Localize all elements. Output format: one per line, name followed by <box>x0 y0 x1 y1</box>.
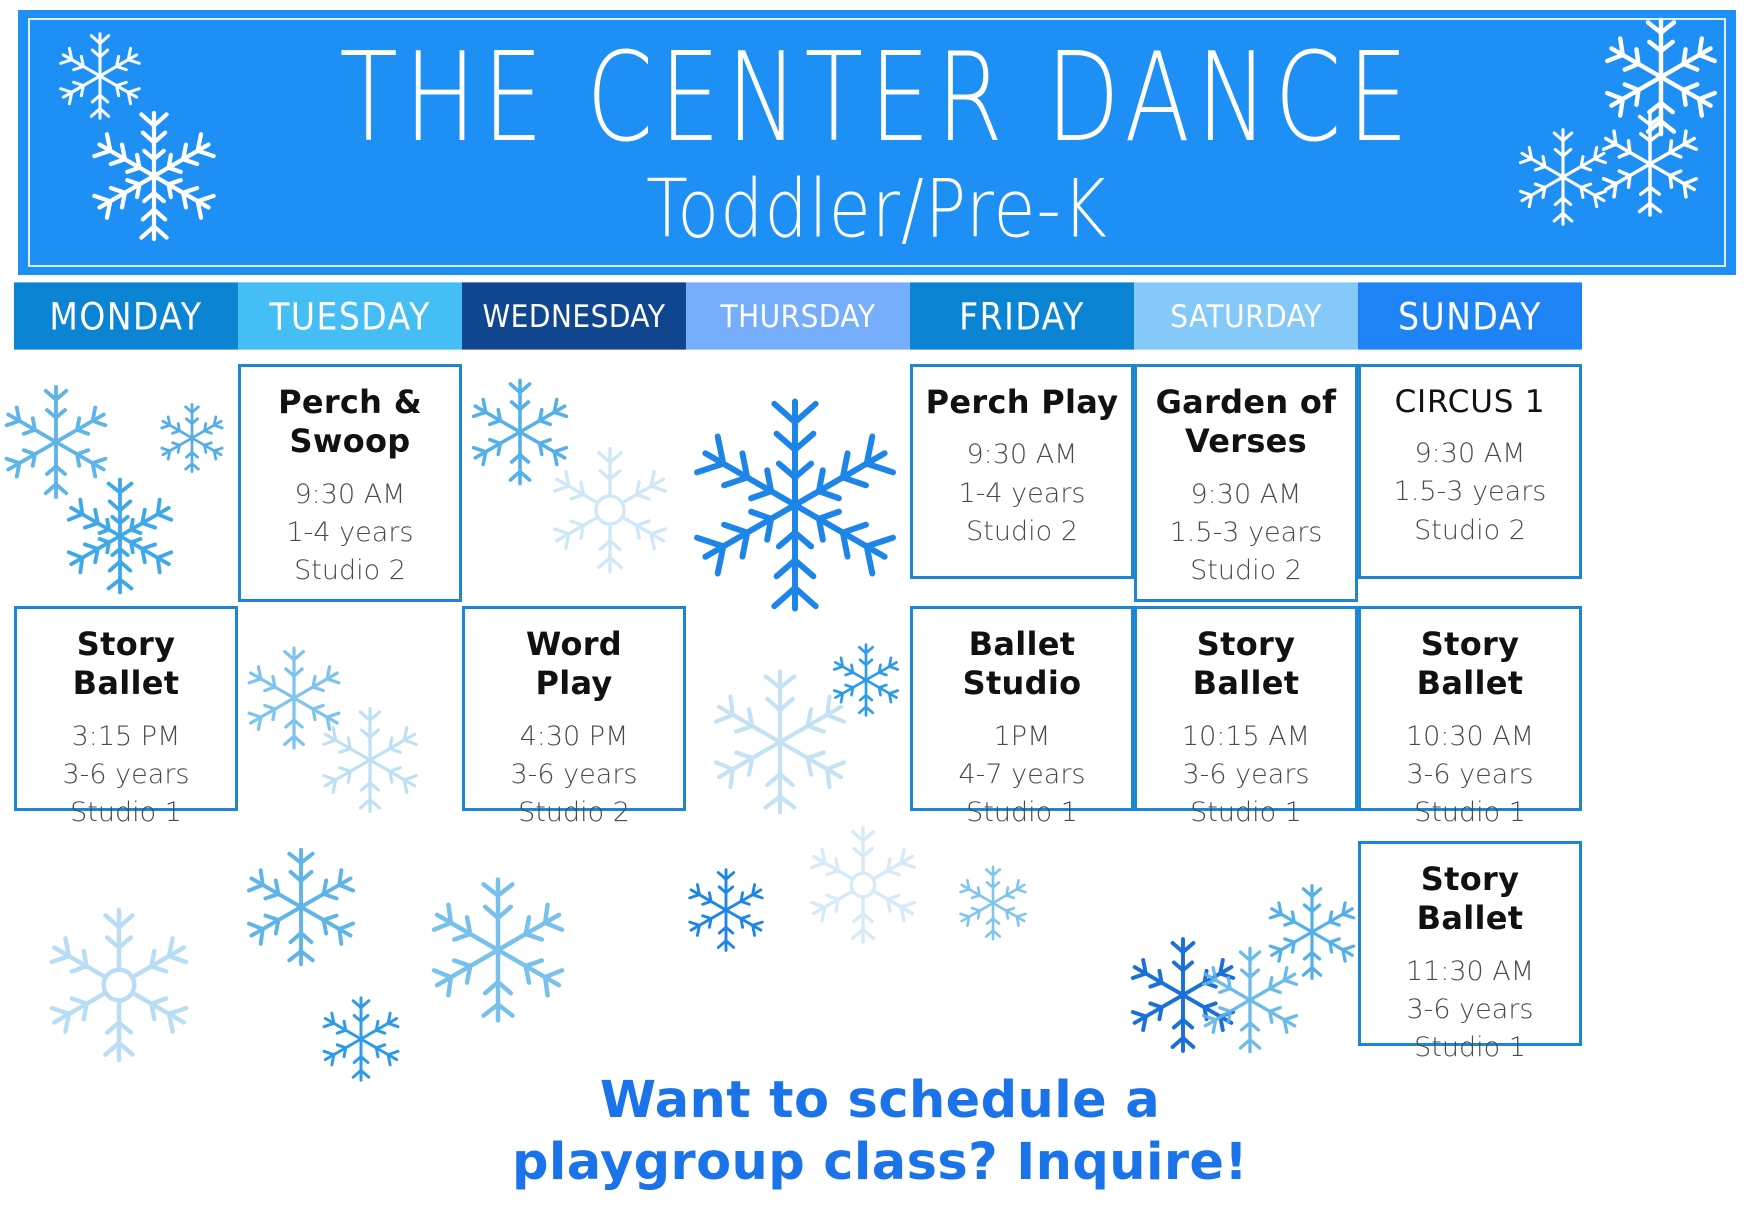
class-ages: 3-6 years <box>23 756 229 794</box>
day-header-monday: MONDAY <box>14 282 238 349</box>
day-header-tuesday: TUESDAY <box>238 282 462 349</box>
class-studio: Studio 2 <box>1367 512 1573 550</box>
inquiry-cta-line1: Want to schedule a <box>430 1070 1330 1132</box>
day-header-label: MONDAY <box>49 294 202 338</box>
class-title-line2: Swoop <box>247 422 453 461</box>
class-title-line2: Ballet <box>1367 664 1573 703</box>
class-studio: Studio 2 <box>247 552 453 590</box>
poster-subtitle: Toddler/Pre-K <box>61 168 1693 249</box>
class-ages: 1-4 years <box>247 514 453 552</box>
class-card[interactable]: Story Ballet 10:30 AM 3-6 years Studio 1 <box>1358 606 1582 811</box>
class-ages: 1-4 years <box>919 475 1125 513</box>
inquiry-cta-line2: playgroup class? Inquire! <box>430 1132 1330 1194</box>
day-header-sunday: SUNDAY <box>1358 282 1582 349</box>
class-ages: 1.5-3 years <box>1367 473 1573 511</box>
day-header-thursday: THURSDAY <box>686 282 910 349</box>
class-studio: Studio 2 <box>471 794 677 832</box>
class-studio: Studio 1 <box>1367 1029 1573 1067</box>
schedule-poster: THE CENTER DANCE Toddler/Pre-K <box>0 0 1754 1225</box>
class-title-line1: Perch & <box>247 383 453 422</box>
day-header-label: SATURDAY <box>1170 298 1321 335</box>
day-header-label: FRIDAY <box>959 294 1085 338</box>
class-title-line2: Ballet <box>23 664 229 703</box>
class-studio: Studio 1 <box>23 794 229 832</box>
class-ages: 3-6 years <box>1143 756 1349 794</box>
class-title-line1: Story <box>1367 625 1573 664</box>
class-time: 9:30 AM <box>919 436 1125 474</box>
class-studio: Studio 2 <box>919 513 1125 551</box>
poster-banner: THE CENTER DANCE Toddler/Pre-K <box>18 10 1736 275</box>
class-title-line1: Garden of <box>1143 383 1349 422</box>
class-card[interactable]: Story Ballet 3:15 PM 3-6 years Studio 1 <box>14 606 238 811</box>
class-time: 4:30 PM <box>471 718 677 756</box>
day-header-label: THURSDAY <box>720 298 875 335</box>
class-title-line1: Word <box>471 625 677 664</box>
class-time: 10:30 AM <box>1367 718 1573 756</box>
day-header-label: SUNDAY <box>1398 294 1542 338</box>
class-studio: Studio 1 <box>1143 794 1349 832</box>
class-ages: 3-6 years <box>471 756 677 794</box>
class-card[interactable]: Story Ballet 11:30 AM 3-6 years Studio 1 <box>1358 841 1582 1046</box>
day-header-label: WEDNESDAY <box>483 298 666 335</box>
day-column-sunday: SUNDAY CIRCUS 1 9:30 AM 1.5-3 years Stud… <box>1358 286 1582 1225</box>
class-ages: 4-7 years <box>919 756 1125 794</box>
class-title-line1: Ballet <box>919 625 1125 664</box>
class-time: 1PM <box>919 718 1125 756</box>
class-card[interactable]: CIRCUS 1 9:30 AM 1.5-3 years Studio 2 <box>1358 364 1582 579</box>
class-title-line2: Ballet <box>1367 899 1573 938</box>
class-title-line2: Ballet <box>1143 664 1349 703</box>
class-time: 10:15 AM <box>1143 718 1349 756</box>
class-title-line1: Story <box>1367 860 1573 899</box>
day-header-label: TUESDAY <box>269 294 431 338</box>
class-title-line2: Verses <box>1143 422 1349 461</box>
poster-title: THE CENTER DANCE <box>87 36 1668 159</box>
class-card[interactable]: Word Play 4:30 PM 3-6 years Studio 2 <box>462 606 686 811</box>
class-ages: 1.5-3 years <box>1143 514 1349 552</box>
class-ages: 3-6 years <box>1367 756 1573 794</box>
day-column-monday: MONDAY Story Ballet 3:15 PM 3-6 years St… <box>14 286 238 1225</box>
class-card[interactable]: Perch & Swoop 9:30 AM 1-4 years Studio 2 <box>238 364 462 602</box>
class-time: 9:30 AM <box>247 476 453 514</box>
class-card[interactable]: Story Ballet 10:15 AM 3-6 years Studio 1 <box>1134 606 1358 811</box>
class-time: 11:30 AM <box>1367 953 1573 991</box>
class-title-line2: Play <box>471 664 677 703</box>
class-time: 3:15 PM <box>23 718 229 756</box>
class-card[interactable]: Perch Play 9:30 AM 1-4 years Studio 2 <box>910 364 1134 579</box>
day-header-friday: FRIDAY <box>910 282 1134 349</box>
class-studio: Studio 2 <box>1143 552 1349 590</box>
class-title-line1: Story <box>23 625 229 664</box>
class-ages: 3-6 years <box>1367 991 1573 1029</box>
class-title-line1: Story <box>1143 625 1349 664</box>
class-title-line1: CIRCUS 1 <box>1367 383 1573 421</box>
class-studio: Studio 1 <box>919 794 1125 832</box>
class-studio: Studio 1 <box>1367 794 1573 832</box>
class-card[interactable]: Garden of Verses 9:30 AM 1.5-3 years Stu… <box>1134 364 1358 602</box>
class-title-line2: Studio <box>919 664 1125 703</box>
day-header-wednesday: WEDNESDAY <box>462 282 686 349</box>
class-card[interactable]: Ballet Studio 1PM 4-7 years Studio 1 <box>910 606 1134 811</box>
class-time: 9:30 AM <box>1143 476 1349 514</box>
day-column-tuesday: TUESDAY Perch & Swoop 9:30 AM 1-4 years … <box>238 286 462 1225</box>
class-time: 9:30 AM <box>1367 435 1573 473</box>
day-header-saturday: SATURDAY <box>1134 282 1358 349</box>
inquiry-cta[interactable]: Want to schedule a playgroup class? Inqu… <box>430 1070 1330 1194</box>
class-title-line1: Perch Play <box>919 383 1125 422</box>
